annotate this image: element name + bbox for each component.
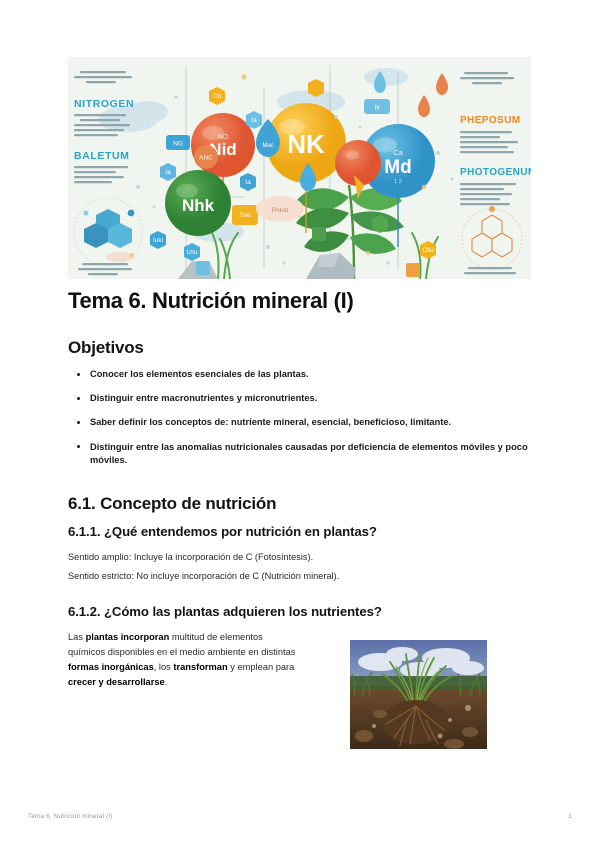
bubble-green-nhk: Nhk xyxy=(165,170,231,236)
svg-text:Ia: Ia xyxy=(165,169,171,176)
bullet-icon xyxy=(77,445,80,448)
list-item-text: Distinguir entre las anomalías nutricion… xyxy=(90,442,528,465)
chip-yellow-tokl: Tokl xyxy=(232,205,258,225)
chip-blue-cube-left xyxy=(196,261,210,275)
subsection-6-1-1-heading: 6.1.1. ¿Qué entendemos por nutrición en … xyxy=(68,524,532,541)
photo-illustration xyxy=(350,640,487,749)
list-item-text: Conocer los elementos esenciales de las … xyxy=(90,369,309,379)
hero-infographic-image: NITROGEN BALETUM xyxy=(68,57,531,279)
list-item: Distinguir entre las anomalías nutricion… xyxy=(88,441,532,467)
svg-text:Lhu: Lhu xyxy=(187,249,198,256)
soil-roots-photo xyxy=(350,640,487,749)
nutrient-acquisition-paragraph: Las plantas incorporan multitud de eleme… xyxy=(68,630,300,690)
chip-blue-ng: NG xyxy=(166,135,190,150)
page-footer: Tema 6. Nutrición mineral (I) 1 xyxy=(28,809,572,823)
subsection-6-1-2-heading: 6.1.2. ¿Cómo las plantas adquieren los n… xyxy=(68,604,532,621)
svg-text:1 2: 1 2 xyxy=(394,179,402,185)
objetivos-heading: Objetivos xyxy=(68,337,532,358)
footer-title: Tema 6. Nutrición mineral (I) xyxy=(28,813,113,820)
sentido-estricto-text: Sentido estricto: No incluye incorporaci… xyxy=(68,569,532,583)
list-item: Saber definir los conceptos de: nutrient… xyxy=(88,416,532,429)
svg-text:NK: NK xyxy=(287,129,325,159)
objetivos-list: Conocer los elementos esenciales de las … xyxy=(68,368,532,467)
svg-text:PHEPOSUM: PHEPOSUM xyxy=(460,115,520,126)
section-6-1-heading: 6.1. Concepto de nutrición xyxy=(68,493,532,514)
svg-text:Md: Md xyxy=(384,157,411,178)
svg-text:Ia: Ia xyxy=(251,117,257,124)
document-page: NITROGEN BALETUM xyxy=(0,0,600,848)
chip-orange-small-right xyxy=(406,263,420,277)
svg-text:Nhk: Nhk xyxy=(182,196,215,215)
text-and-photo-row: Las plantas incorporan multitud de eleme… xyxy=(68,630,532,748)
svg-text:BALETUM: BALETUM xyxy=(74,150,130,162)
chip-orange-anc: ANC xyxy=(194,145,218,169)
bullet-icon xyxy=(77,421,80,424)
svg-text:Cllu: Cllu xyxy=(422,247,434,254)
list-item-text: Saber definir los conceptos de: nutrient… xyxy=(90,417,451,427)
svg-text:PHOTOGENUM: PHOTOGENUM xyxy=(460,167,531,178)
bullet-icon xyxy=(77,373,80,376)
footer-page-number: 1 xyxy=(568,813,572,820)
bullet-icon xyxy=(77,397,80,400)
svg-text:ANC: ANC xyxy=(199,155,213,162)
svg-text:Ca: Ca xyxy=(393,148,403,157)
document-content: Tema 6. Nutrición mineral (I) Objetivos … xyxy=(68,288,532,748)
svg-text:NG: NG xyxy=(173,141,183,148)
svg-text:Iuki: Iuki xyxy=(153,237,163,244)
page-title: Tema 6. Nutrición mineral (I) xyxy=(68,288,532,315)
svg-text:Tokl: Tokl xyxy=(239,212,251,219)
svg-text:N: N xyxy=(375,105,380,112)
sentido-amplio-text: Sentido amplio: Incluye la incorporación… xyxy=(68,550,532,564)
list-item: Conocer los elementos esenciales de las … xyxy=(88,368,532,381)
svg-text:Cn: Cn xyxy=(213,93,222,100)
svg-text:Mac: Mac xyxy=(262,143,273,149)
svg-text:Pokat: Pokat xyxy=(272,207,289,214)
chip-blue-n-tag: N xyxy=(364,99,390,114)
list-item-text: Distinguir entre macronutrientes y micro… xyxy=(90,393,317,403)
list-item: Distinguir entre macronutrientes y micro… xyxy=(88,392,532,405)
chip-peach-pokat: Pokat xyxy=(256,196,304,222)
infographic-illustration: NITROGEN BALETUM xyxy=(68,57,531,279)
svg-text:Ia: Ia xyxy=(245,179,251,186)
chip-green-cube-2 xyxy=(312,227,326,241)
svg-text:NITROGEN: NITROGEN xyxy=(74,98,134,110)
